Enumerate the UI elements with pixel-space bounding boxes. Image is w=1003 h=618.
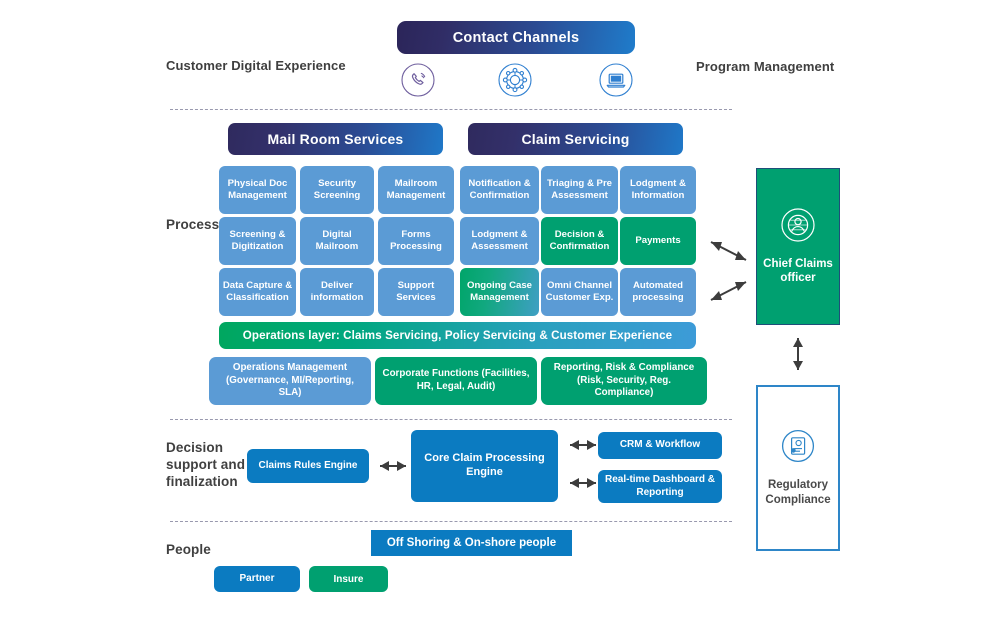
chip-insure-label: Insure xyxy=(333,574,363,585)
tile-automated-processing[interactable]: Automated processing xyxy=(620,268,696,316)
tile-security-screening[interactable]: Security Screening xyxy=(300,166,374,214)
tile-label: Decision & Confirmation xyxy=(544,229,615,252)
network-hub-icon[interactable] xyxy=(498,63,532,97)
tile-label: Mailroom Management xyxy=(381,178,451,201)
tile-label: Forms Processing xyxy=(381,229,451,252)
tile-label: Data Capture & Classification xyxy=(222,280,293,303)
operations-layer-bar[interactable]: Operations layer: Claims Servicing, Poli… xyxy=(219,322,696,349)
compliance-document-icon xyxy=(780,428,816,469)
contact-channels-label: Contact Channels xyxy=(453,30,579,46)
tile-decision-confirmation[interactable]: Decision & Confirmation xyxy=(541,217,618,265)
offshoring-onshore-banner[interactable]: Off Shoring & On-shore people xyxy=(371,530,572,556)
core-claim-processing-engine-box[interactable]: Core Claim Processing Engine xyxy=(411,430,558,502)
chief-claims-officer-panel[interactable]: Chief Claims officer xyxy=(756,168,840,325)
tile-label: Support Services xyxy=(381,280,451,303)
ops-tile-label: Reporting, Risk & Compliance (Risk, Secu… xyxy=(547,362,701,400)
chip-partner[interactable]: Partner xyxy=(214,566,300,592)
phone-icon[interactable] xyxy=(401,63,435,97)
tile-omni-channel-customer-exp[interactable]: Omni Channel Customer Exp. xyxy=(541,268,618,316)
mail-room-services-header[interactable]: Mail Room Services xyxy=(228,123,443,155)
ops-tile-label: Operations Management (Governance, MI/Re… xyxy=(215,362,365,400)
tile-payments[interactable]: Payments xyxy=(620,217,696,265)
claims-rules-engine-box[interactable]: Claims Rules Engine xyxy=(247,449,369,483)
crm-workflow-label: CRM & Workflow xyxy=(620,439,700,452)
tile-label: Lodgment & Assessment xyxy=(463,229,536,252)
tile-label: Lodgment & Information xyxy=(623,178,693,201)
chief-claims-officer-label: Chief Claims officer xyxy=(757,257,839,287)
claim-servicing-header[interactable]: Claim Servicing xyxy=(468,123,683,155)
program-management-label: Program Management xyxy=(696,59,916,74)
claim-servicing-label: Claim Servicing xyxy=(521,131,629,147)
tile-ongoing-case-management[interactable]: Ongoing Case Management xyxy=(460,268,539,316)
ops-tile-operations-management[interactable]: Operations Management (Governance, MI/Re… xyxy=(209,357,371,405)
claims-operating-model-diagram: Contact Channels Customer Digital Experi… xyxy=(0,0,1003,618)
tile-mailroom-management[interactable]: Mailroom Management xyxy=(378,166,454,214)
tile-label: Screening & Digitization xyxy=(222,229,293,252)
tile-label: Triaging & Pre Assessment xyxy=(544,178,615,201)
tile-label: Payments xyxy=(635,235,680,247)
tile-screening-digitization[interactable]: Screening & Digitization xyxy=(219,217,296,265)
tile-label: Omni Channel Customer Exp. xyxy=(544,280,615,303)
people-row-label: People xyxy=(166,542,246,559)
chip-insure[interactable]: Insure xyxy=(309,566,388,592)
section-divider-people xyxy=(170,521,732,522)
regulatory-compliance-label: Regulatory Compliance xyxy=(758,478,838,508)
realtime-dashboard-label: Real-time Dashboard & Reporting xyxy=(598,474,722,499)
claims-rules-engine-label: Claims Rules Engine xyxy=(259,460,358,473)
section-divider-decision xyxy=(170,419,732,420)
arrow-process-to-chief-upper xyxy=(704,236,754,266)
tile-lodgment-assessment[interactable]: Lodgment & Assessment xyxy=(460,217,539,265)
tile-label: Physical Doc Management xyxy=(222,178,293,201)
regulatory-compliance-panel[interactable]: Regulatory Compliance xyxy=(756,385,840,551)
tile-triaging-pre-assessment[interactable]: Triaging & Pre Assessment xyxy=(541,166,618,214)
section-divider-top xyxy=(170,109,732,110)
tile-deliver-information[interactable]: Deliver information xyxy=(300,268,374,316)
realtime-dashboard-box[interactable]: Real-time Dashboard & Reporting xyxy=(598,470,722,503)
contact-channels-header[interactable]: Contact Channels xyxy=(397,21,635,54)
crm-workflow-box[interactable]: CRM & Workflow xyxy=(598,432,722,459)
arrow-chief-to-regulatory xyxy=(787,330,809,378)
tile-label: Ongoing Case Management xyxy=(463,280,536,303)
ops-tile-reporting-risk-compliance[interactable]: Reporting, Risk & Compliance (Risk, Secu… xyxy=(541,357,707,405)
decision-support-row-label: Decision support and finalization xyxy=(166,440,254,491)
tile-label: Deliver information xyxy=(303,280,371,303)
tile-physical-doc-management[interactable]: Physical Doc Management xyxy=(219,166,296,214)
tile-support-services[interactable]: Support Services xyxy=(378,268,454,316)
person-badge-icon xyxy=(780,207,816,248)
mail-room-services-label: Mail Room Services xyxy=(268,131,404,147)
laptop-icon[interactable] xyxy=(599,63,633,97)
tile-data-capture-classification[interactable]: Data Capture & Classification xyxy=(219,268,296,316)
tile-label: Notification & Confirmation xyxy=(463,178,536,201)
tile-lodgment-information[interactable]: Lodgment & Information xyxy=(620,166,696,214)
chip-partner-label: Partner xyxy=(239,573,274,586)
customer-digital-experience-label: Customer Digital Experience xyxy=(166,58,386,73)
arrow-process-to-chief-lower xyxy=(704,276,754,306)
tile-label: Digital Mailroom xyxy=(303,229,371,252)
core-claim-processing-engine-label: Core Claim Processing Engine xyxy=(411,452,558,480)
ops-tile-corporate-functions[interactable]: Corporate Functions (Facilities, HR, Leg… xyxy=(375,357,537,405)
tile-digital-mailroom[interactable]: Digital Mailroom xyxy=(300,217,374,265)
tile-label: Automated processing xyxy=(623,280,693,303)
arrow-rules-to-core xyxy=(372,455,414,477)
tile-label: Security Screening xyxy=(303,178,371,201)
offshoring-onshore-label: Off Shoring & On-shore people xyxy=(387,536,556,550)
tile-notification-confirmation[interactable]: Notification & Confirmation xyxy=(460,166,539,214)
operations-layer-label: Operations layer: Claims Servicing, Poli… xyxy=(243,329,672,342)
ops-tile-label: Corporate Functions (Facilities, HR, Leg… xyxy=(381,368,531,393)
tile-forms-processing[interactable]: Forms Processing xyxy=(378,217,454,265)
